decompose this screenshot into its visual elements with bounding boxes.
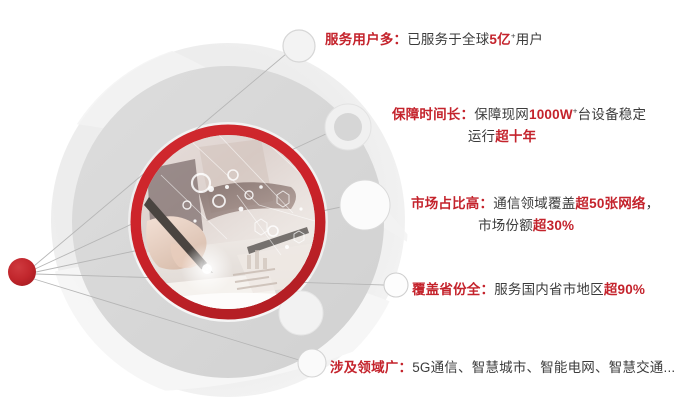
node-uptime-icon[interactable] <box>334 113 362 141</box>
callout-3-text-pre: 通信领域覆盖 <box>493 196 575 211</box>
callout-1-emphasis: 5亿 <box>489 32 510 47</box>
callout-3-line2-emphasis: 超30% <box>533 218 574 233</box>
callout-2-line2-emphasis: 超十年 <box>495 129 536 144</box>
center-photo <box>141 135 315 309</box>
callout-2-line2: 运行超十年 <box>392 126 646 148</box>
callout-2-heading: 保障时间长： <box>392 107 474 122</box>
callout-province-coverage: 覆盖省份全：服务国内省市地区超90% <box>412 279 645 301</box>
origin-node-icon[interactable] <box>8 258 36 286</box>
callout-service-users: 服务用户多：已服务于全球5亿+用户 <box>325 29 543 51</box>
callout-2-text-post: 台设备稳定 <box>578 107 647 122</box>
callout-4-emphasis: 超90% <box>604 282 645 297</box>
callout-3-heading: 市场占比高： <box>411 196 493 211</box>
node-share-icon[interactable] <box>340 180 390 230</box>
callout-4-heading: 覆盖省份全： <box>412 282 494 297</box>
callout-2-line2-pre: 运行 <box>468 129 495 144</box>
callout-domains: 涉及领域广：5G通信、智慧城市、智能电网、智慧交通... <box>330 357 675 379</box>
node-coverage-icon[interactable] <box>384 273 408 297</box>
callout-3-line2-pre: 市场份额 <box>478 218 533 233</box>
infographic-canvas: 服务用户多：已服务于全球5亿+用户 保障时间长：保障现网1000W+台设备稳定 … <box>0 0 700 411</box>
callout-3-emphasis: 超50张网络 <box>575 196 645 211</box>
node-users-icon[interactable] <box>283 30 315 62</box>
callout-guarantee-duration: 保障时间长：保障现网1000W+台设备稳定 运行超十年 <box>392 104 646 148</box>
callout-4-text-pre: 服务国内省市地区 <box>494 282 604 297</box>
callout-1-text-pre: 已服务于全球 <box>407 32 489 47</box>
callout-2-emphasis: 1000W <box>529 107 573 122</box>
callout-5-text-pre: 5G通信、智慧城市、智能电网、智慧交通... <box>412 360 675 375</box>
callout-1-heading: 服务用户多： <box>325 32 407 47</box>
callout-market-share: 市场占比高：通信领域覆盖超50张网络， 市场份额超30% <box>411 193 659 237</box>
callout-3-text-post: ， <box>646 196 660 211</box>
center-photo-art <box>141 135 315 309</box>
callout-3-line2: 市场份额超30% <box>411 215 659 237</box>
callout-5-heading: 涉及领域广： <box>330 360 412 375</box>
node-domains-icon[interactable] <box>298 349 326 377</box>
callout-1-text-post: 用户 <box>516 32 543 47</box>
callout-2-text-pre: 保障现网 <box>474 107 529 122</box>
